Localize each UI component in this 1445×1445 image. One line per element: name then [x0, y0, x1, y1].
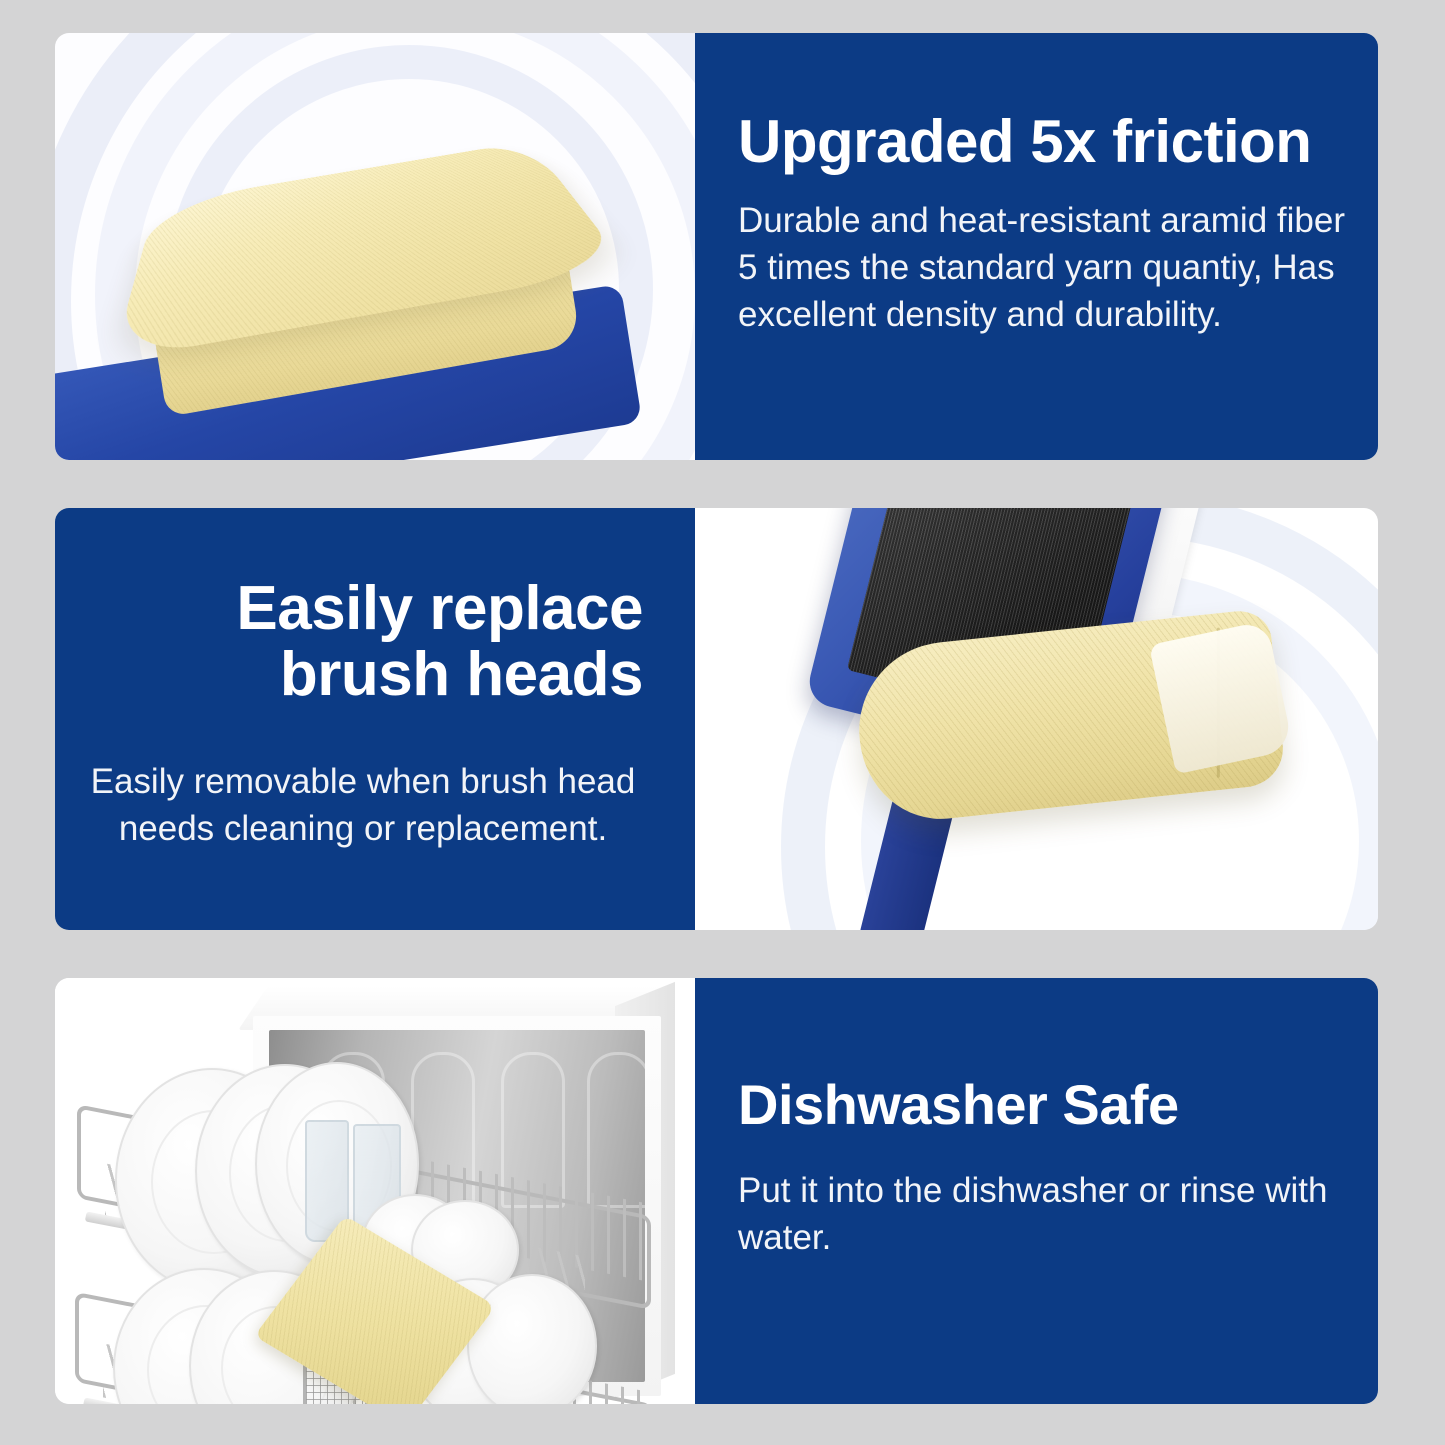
panel-heading-dishwasher-safe: Dishwasher Safe [738, 1076, 1348, 1135]
text-block: Easily replace brush heads Easily remova… [83, 576, 643, 852]
panel-dishwasher-safe-text: Dishwasher Safe Put it into the dishwash… [695, 978, 1378, 1404]
panel-heading-replace-brush-heads: Easily replace brush heads [83, 576, 643, 709]
panel-replace-brush-heads-image [695, 508, 1378, 930]
panel-heading-upgraded-friction: Upgraded 5x friction [738, 111, 1358, 172]
text-block: Upgraded 5x friction Durable and heat-re… [738, 111, 1358, 339]
panel-body-upgraded-friction: Durable and heat-resistant aramid fiber … [738, 198, 1358, 339]
panel-replace-brush-heads-text: Easily replace brush heads Easily remova… [55, 508, 695, 930]
cavity-rib [587, 1052, 645, 1208]
panel-upgraded-friction-text: Upgraded 5x friction Durable and heat-re… [695, 33, 1378, 460]
infographic-stage: Upgraded 5x friction Durable and heat-re… [0, 0, 1445, 1445]
heading-line-1: Easily replace [236, 574, 643, 643]
dishwasher-illustration [55, 978, 695, 1404]
folded-yellow-cloth [125, 78, 631, 460]
panel-upgraded-friction-image [55, 33, 695, 460]
text-block: Dishwasher Safe Put it into the dishwash… [738, 1076, 1348, 1262]
heading-line-2: brush heads [280, 640, 643, 709]
panel-body-dishwasher-safe: Put it into the dishwasher or rinse with… [738, 1168, 1348, 1262]
panel-body-replace-brush-heads: Easily removable when brush head needs c… [83, 759, 643, 853]
panel-dishwasher-safe-image [55, 978, 695, 1404]
